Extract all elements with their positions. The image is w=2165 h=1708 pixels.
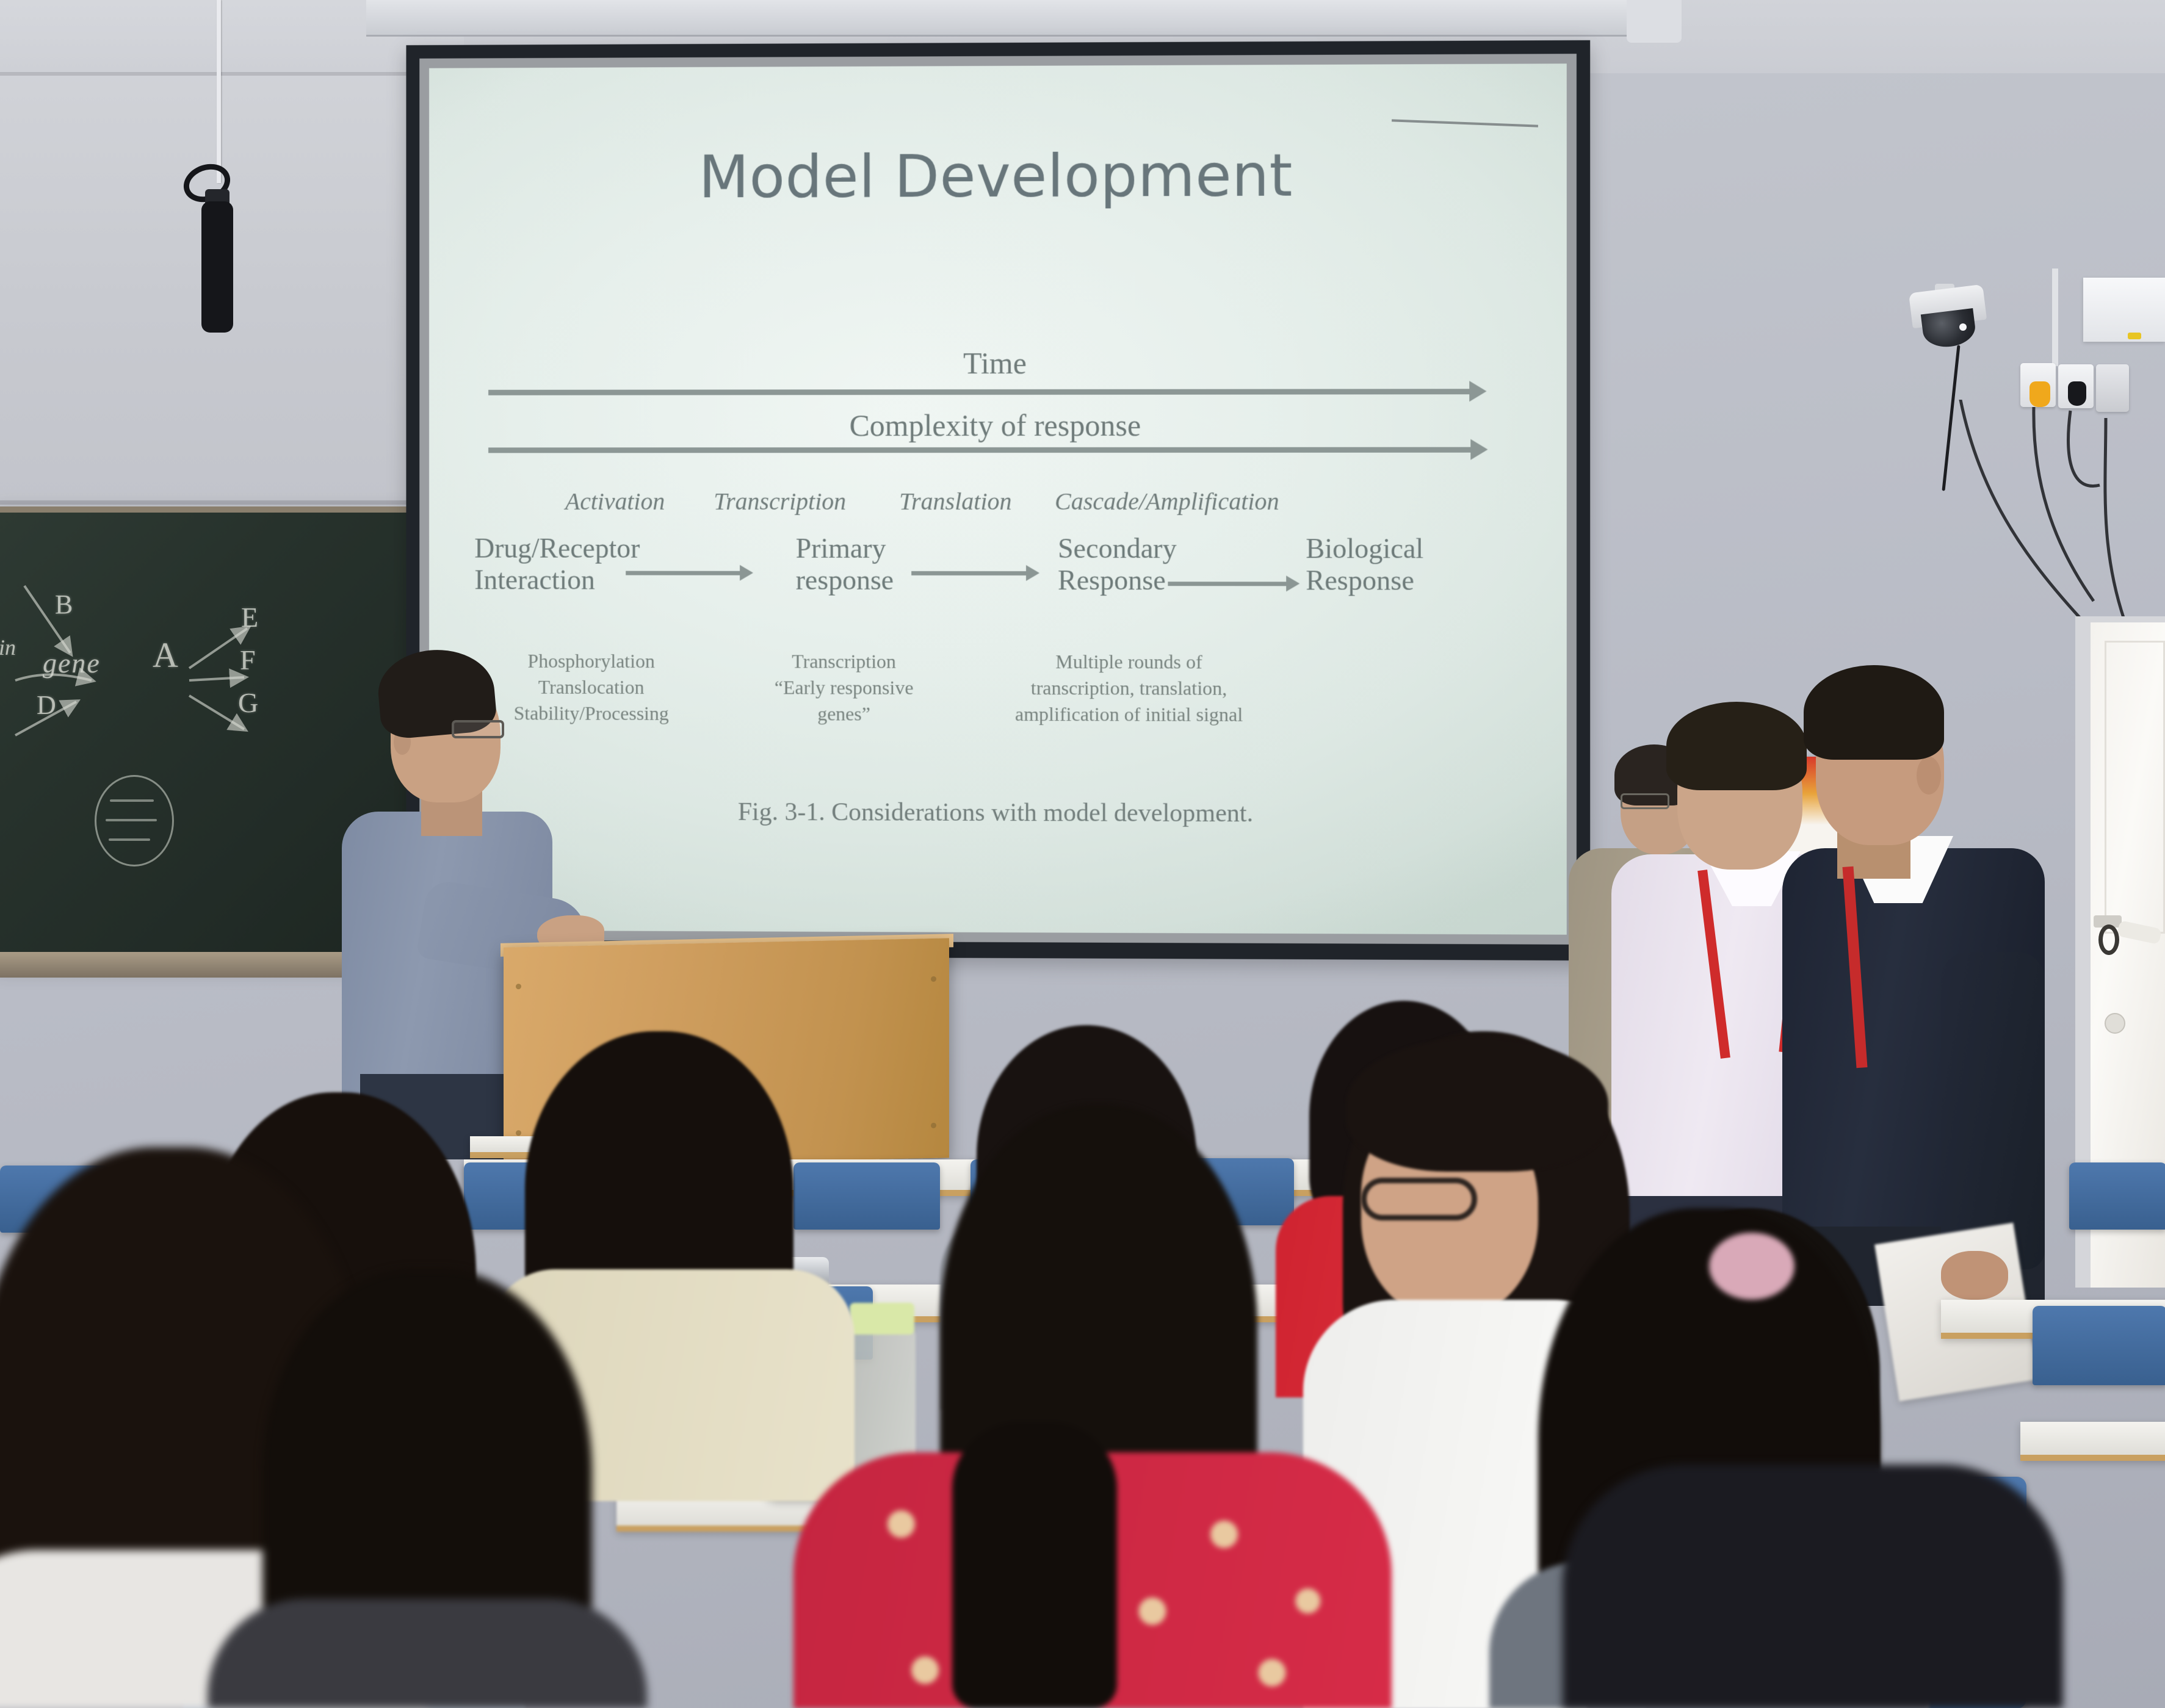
camera-lens-glint xyxy=(1959,323,1967,331)
flow-node-primary-response: Primary response xyxy=(796,533,894,596)
stage-label-transcription: Transcription xyxy=(714,487,846,516)
guest3-arm xyxy=(1941,952,2045,1269)
node-line-2a: Primary xyxy=(796,533,894,564)
stage-label-row: Activation Transcription Translation Cas… xyxy=(429,487,1567,524)
node-line-3a: Secondary xyxy=(1058,533,1177,564)
door-ring-handle[interactable] xyxy=(2098,924,2119,955)
projection-screen: Model Development Time Complexity of res… xyxy=(406,40,1590,960)
door-panel xyxy=(2105,641,2165,934)
stage-label-activation: Activation xyxy=(565,487,665,516)
axis-label-time: Time xyxy=(429,345,1567,381)
slide-title: Model Development xyxy=(429,140,1567,212)
slide-content: Model Development Time Complexity of res… xyxy=(429,63,1567,935)
sub-note-1c: Stability/Processing xyxy=(514,701,669,727)
hair-scrunchie xyxy=(1709,1233,1795,1300)
node-line-4a: Biological xyxy=(1306,533,1423,564)
chalk-drawing-cell xyxy=(95,775,174,867)
node-line-1a: Drug/Receptor xyxy=(474,533,640,564)
glasses-icon xyxy=(452,720,504,738)
hanging-microphone xyxy=(201,201,233,333)
guest2-hair xyxy=(1666,702,1807,790)
stage-label-cascade: Cascade/Amplification xyxy=(1055,487,1279,516)
flow-arrow-1 xyxy=(626,571,741,575)
wall-mounted-control-box xyxy=(2083,278,2165,342)
node-line-3b: Response xyxy=(1058,564,1177,596)
sub-note-2b: “Early responsive xyxy=(775,675,914,702)
screen-inner-border: Model Development Time Complexity of res… xyxy=(419,54,1577,945)
guest3-hand xyxy=(1941,1251,2008,1300)
sub-note-2c: genes” xyxy=(775,701,914,728)
node-line-2b: response xyxy=(796,564,894,596)
figure-caption: Fig. 3-1. Considerations with model deve… xyxy=(429,796,1567,829)
lecture-hall-scene: lin B D gene A E F G Model Development T… xyxy=(0,0,2165,1708)
stage-label-translation: Translation xyxy=(899,487,1011,516)
sub-note-group-2: Transcription “Early responsive genes” xyxy=(775,649,914,728)
sub-note-3c: amplification of initial signal xyxy=(1015,701,1243,728)
wall-seam-lower xyxy=(0,500,427,505)
sub-note-3a: Multiple rounds of xyxy=(1015,649,1243,676)
screen-mount-rail xyxy=(366,0,1679,37)
wall-seam-upper xyxy=(0,72,476,76)
ponytail xyxy=(952,1422,1117,1708)
control-box-led xyxy=(2128,333,2141,339)
lecture-desk-row xyxy=(2020,1422,2165,1461)
glasses-icon xyxy=(1361,1178,1477,1220)
sub-note-1a: Phosphorylation xyxy=(514,648,669,674)
chalk-arrows xyxy=(0,549,317,805)
axis-label-complexity: Complexity of response xyxy=(429,407,1567,443)
wall-conduit xyxy=(2052,268,2058,366)
auditorium-chair[interactable] xyxy=(2033,1306,2165,1385)
axis-arrow-time xyxy=(488,389,1470,395)
flow-arrow-2 xyxy=(911,571,1027,575)
door-knob[interactable] xyxy=(2105,1013,2125,1034)
auditorium-chair[interactable] xyxy=(2069,1162,2165,1230)
sub-note-3b: transcription, translation, xyxy=(1015,675,1243,702)
sub-note-group-1: Phosphorylation Translocation Stability/… xyxy=(514,648,669,727)
flow-node-drug-receptor: Drug/Receptor Interaction xyxy=(474,533,640,596)
projected-slide-surface: Model Development Time Complexity of res… xyxy=(429,63,1567,935)
sub-note-1b: Translocation xyxy=(514,674,669,701)
flow-node-secondary-response: Secondary Response xyxy=(1058,533,1177,596)
auditorium-chair[interactable] xyxy=(793,1162,940,1230)
axis-arrow-complexity xyxy=(488,447,1472,453)
guest3-hair xyxy=(1804,665,1944,760)
microphone-cable xyxy=(217,0,221,183)
node-line-4b: Response xyxy=(1306,564,1423,596)
flow-node-biological-response: Biological Response xyxy=(1306,533,1423,596)
flow-arrow-3 xyxy=(1168,582,1287,586)
screen-mount-bracket xyxy=(1627,0,1682,43)
node-line-1b: Interaction xyxy=(474,564,640,596)
sub-note-group-3: Multiple rounds of transcription, transl… xyxy=(1015,649,1243,728)
guest3-ear xyxy=(1917,757,1941,795)
sub-note-2a: Transcription xyxy=(775,649,914,675)
glasses-icon xyxy=(1621,793,1669,809)
clear-bottle-cap[interactable] xyxy=(850,1303,914,1335)
